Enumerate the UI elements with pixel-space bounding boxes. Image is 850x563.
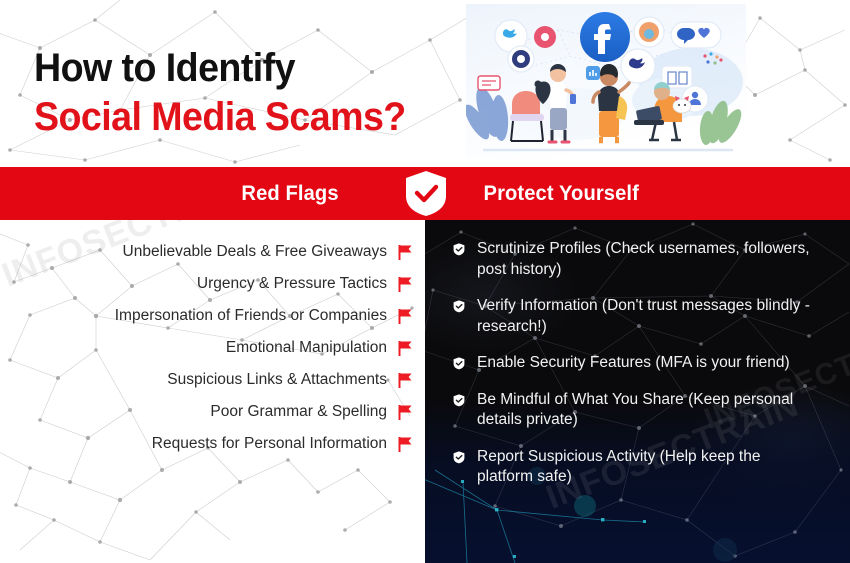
infographic-root: How to Identify Social Media Scams? [0, 0, 850, 563]
red-flag-label: Suspicious Links & Attachments [167, 370, 387, 390]
red-flag-icon [398, 309, 412, 324]
red-flag-label: Urgency & Pressure Tactics [197, 274, 387, 294]
page-title: How to Identify Social Media Scams? [34, 44, 429, 142]
red-flag-label: Emotional Manipulation [226, 338, 387, 358]
red-flag-icon [398, 437, 412, 452]
protect-label: Scrutinize Profiles (Check usernames, fo… [477, 239, 817, 280]
list-item: Suspicious Links & Attachments [0, 364, 412, 396]
red-flag-icon [398, 245, 412, 260]
red-flag-label: Requests for Personal Information [152, 434, 387, 454]
list-item: Urgency & Pressure Tactics [0, 268, 412, 300]
list-item: Scrutinize Profiles (Check usernames, fo… [453, 239, 843, 280]
shield-check-bullet-icon [453, 357, 465, 370]
protect-label: Verify Information (Don't trust messages… [477, 296, 817, 337]
social-media-illustration [466, 4, 746, 159]
red-flags-list: Unbelievable Deals & Free Giveaways Urge… [0, 236, 412, 460]
red-flag-label: Unbelievable Deals & Free Giveaways [123, 242, 387, 262]
list-item: Requests for Personal Information [0, 428, 412, 460]
shield-check-icon [404, 170, 448, 217]
protect-label: Report Suspicious Activity (Help keep th… [477, 447, 817, 488]
list-item: Be Mindful of What You Share (Keep perso… [453, 390, 843, 431]
list-item: Report Suspicious Activity (Help keep th… [453, 447, 843, 488]
list-item: Verify Information (Don't trust messages… [453, 296, 843, 337]
shield-check-bullet-icon [453, 300, 465, 313]
protect-yourself-panel: Scrutinize Profiles (Check usernames, fo… [425, 220, 850, 563]
red-flags-panel: Unbelievable Deals & Free Giveaways Urge… [0, 220, 425, 563]
protect-label: Be Mindful of What You Share (Keep perso… [477, 390, 817, 431]
shield-check-bullet-icon [453, 243, 465, 256]
red-flag-label: Impersonation of Friends or Companies [115, 306, 387, 326]
protect-label: Enable Security Features (MFA is your fr… [477, 353, 790, 374]
header-zone: How to Identify Social Media Scams? [0, 0, 850, 167]
protect-yourself-list: Scrutinize Profiles (Check usernames, fo… [453, 239, 843, 504]
red-flag-label: Poor Grammar & Spelling [210, 402, 387, 422]
protect-yourself-heading: Protect Yourself [448, 167, 834, 220]
list-item: Impersonation of Friends or Companies [0, 300, 412, 332]
shield-check-bullet-icon [453, 451, 465, 464]
red-flag-icon [398, 405, 412, 420]
red-flag-icon [398, 373, 412, 388]
list-item: Unbelievable Deals & Free Giveaways [0, 236, 412, 268]
list-item: Poor Grammar & Spelling [0, 396, 412, 428]
page-title-line-2: Social Media Scams? [34, 93, 406, 142]
red-flag-icon [398, 277, 412, 292]
list-item: Emotional Manipulation [0, 332, 412, 364]
red-flag-icon [398, 341, 412, 356]
list-item: Enable Security Features (MFA is your fr… [453, 353, 843, 374]
page-title-line-1: How to Identify [34, 44, 406, 93]
red-flags-heading: Red Flags [16, 167, 402, 220]
shield-check-bullet-icon [453, 394, 465, 407]
